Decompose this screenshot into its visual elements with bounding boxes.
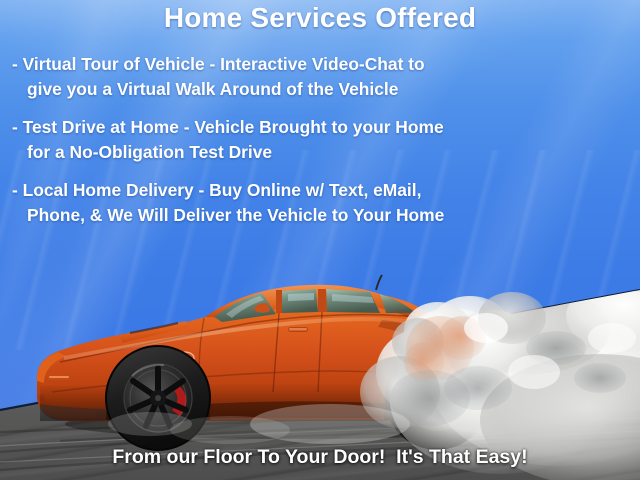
tagline: From our Floor To Your Door! It's That E… <box>0 446 640 469</box>
promo-banner: Home Services Offered - Virtual Tour of … <box>0 0 640 480</box>
list-item: - Virtual Tour of Vehicle - Interactive … <box>12 52 628 102</box>
list-item-line-2: for a No-Obligation Test Drive <box>12 140 628 165</box>
list-item: - Local Home Delivery - Buy Online w/ Te… <box>12 178 628 228</box>
list-item-line-2: give you a Virtual Walk Around of the Ve… <box>12 77 628 102</box>
list-item: - Test Drive at Home - Vehicle Brought t… <box>12 115 628 165</box>
list-item-line-1: - Local Home Delivery - Buy Online w/ Te… <box>12 178 628 203</box>
list-item-line-2: Phone, & We Will Deliver the Vehicle to … <box>12 203 628 228</box>
page-title: Home Services Offered <box>0 2 640 34</box>
list-item-line-1: - Test Drive at Home - Vehicle Brought t… <box>12 115 628 140</box>
services-list: - Virtual Tour of Vehicle - Interactive … <box>12 52 628 241</box>
list-item-line-1: - Virtual Tour of Vehicle - Interactive … <box>12 52 628 77</box>
